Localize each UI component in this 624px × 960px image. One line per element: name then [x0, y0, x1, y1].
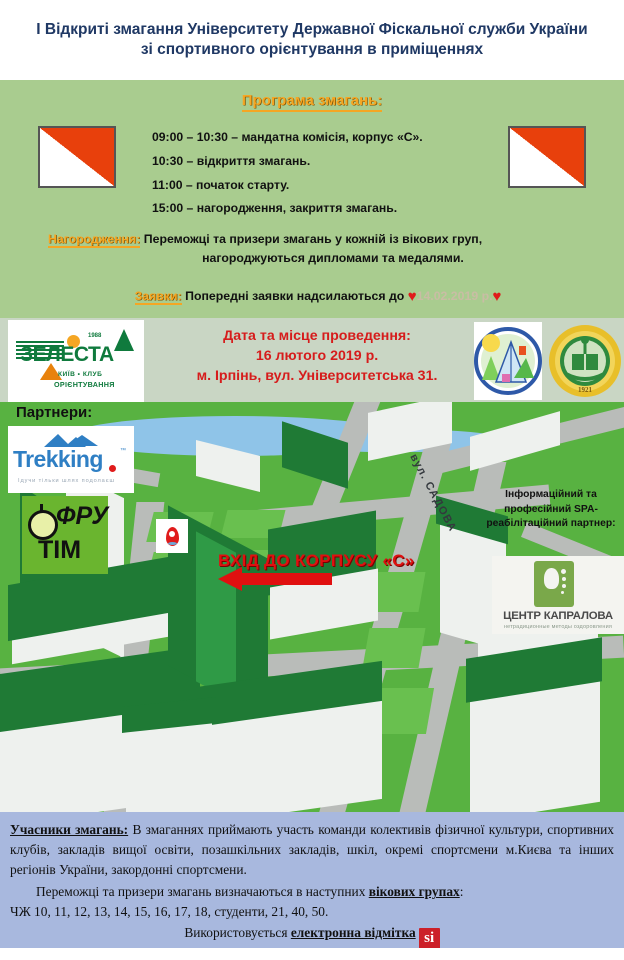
applications-deadline: 14.02.2019 р.	[417, 289, 493, 303]
groups-pre: Переможці та призери змагань визначаютьс…	[36, 884, 369, 899]
tree-icon	[114, 329, 134, 351]
schedule-item: 15:00 – нагородження, закриття змагань.	[152, 197, 512, 221]
epunch-label: електронна відмітка	[291, 925, 416, 940]
heart-icon: ♥	[493, 288, 502, 305]
frutim-tim: ТІМ	[38, 536, 81, 565]
trekking-name: Trekking	[13, 446, 103, 473]
schedule-item: 09:00 – 10:30 – мандатна комісія, корпус…	[152, 126, 512, 150]
svg-text:1921: 1921	[578, 386, 593, 394]
participants-paragraph: Учасники змагань: В змаганнях приймають …	[10, 820, 614, 879]
venue-info: Дата та місце проведення: 16 лютого 2019…	[152, 326, 482, 386]
zelesta-logo: 1988 ЗЕЛЕСТА КИЇВ • КЛУБ ОРІЄНТУВАННЯ	[8, 320, 144, 402]
kapralov-name: ЦЕНТР КАПРАЛОВА	[492, 610, 624, 622]
kapralov-center-logo: ЦЕНТР КАПРАЛОВА нетрадиционные методы оз…	[492, 556, 624, 634]
program-heading: Програма змагань:	[0, 92, 624, 109]
footprint-icon	[534, 561, 574, 607]
groups-list: ЧЖ 10, 11, 12, 13, 14, 15, 16, 17, 18, с…	[10, 902, 614, 922]
zelesta-sub-1: КИЇВ • КЛУБ	[58, 371, 102, 378]
entrance-arrow-shaft-icon	[240, 573, 332, 585]
groups-paragraph: Переможці та призери змагань визначаютьс…	[10, 882, 614, 902]
awards-text-1: Переможці та призери змагань у кожній із…	[140, 232, 482, 246]
trekking-logo: Trekking ™ Ідучи тільки шлях подолаєш	[8, 426, 134, 493]
groups-colon: :	[460, 884, 464, 899]
awards-block: Нагородження: Переможці та призери змага…	[48, 230, 588, 268]
university-emblem-icon: 1921	[548, 324, 622, 398]
tourism-emblem-icon	[474, 322, 542, 400]
awards-line-2: нагороджуються дипломами та медалями.	[48, 249, 588, 267]
program-schedule: 09:00 – 10:30 – мандатна комісія, корпус…	[152, 126, 512, 221]
schedule-item: 10:30 – відкриття змагань.	[152, 150, 512, 174]
awards-line-1: Нагородження: Переможці та призери змага…	[48, 230, 588, 248]
map-pin-marker[interactable]	[156, 519, 188, 553]
frutim-logo: ФРУ ТІМ	[22, 496, 108, 574]
trekking-tagline: Ідучи тільки шлях подолаєш	[18, 478, 115, 484]
poster-title-bar: І Відкриті змагання Університету Державн…	[0, 0, 624, 80]
participants-label: Учасники змагань:	[10, 822, 128, 837]
zelesta-sub-2: ОРІЄНТУВАННЯ	[54, 380, 115, 389]
trekking-dot-icon	[109, 465, 116, 472]
kapralov-tagline: нетрадиционные методы оздоровления	[492, 624, 624, 630]
poster-title: І Відкриті змагання Університету Державн…	[32, 20, 592, 60]
control-flag-right-icon	[508, 126, 586, 188]
partners-label: Партнери:	[16, 404, 92, 421]
zelesta-name: ЗЕЛЕСТА	[20, 343, 114, 367]
poster: І Відкриті змагання Університету Державн…	[0, 0, 624, 960]
sportident-logo-icon: si	[419, 928, 440, 949]
schedule-item: 11:00 – початок старту.	[152, 174, 512, 198]
location-pin-icon	[166, 527, 179, 546]
footer-text: Учасники змагань: В змаганнях приймають …	[10, 820, 614, 949]
spa-partner-label: Інформаційний та професійний SPA-реабілі…	[480, 488, 622, 532]
entrance-arrow-head-icon	[218, 567, 242, 591]
program-heading-text: Програма змагань:	[242, 92, 382, 112]
frutim-fru: ФРУ	[56, 502, 108, 531]
groups-label: вікових групах	[369, 884, 460, 899]
epunch-paragraph: Використовується електронна відміткаsi	[10, 923, 614, 949]
trademark-icon: ™	[120, 448, 126, 454]
venue-line-3: м. Ірпінь, вул. Університетська 31.	[152, 366, 482, 386]
epunch-pre: Використовується	[184, 925, 291, 940]
venue-line-2: 16 лютого 2019 р.	[152, 346, 482, 366]
venue-line-1: Дата та місце проведення:	[152, 326, 482, 346]
bottom-white-strip	[0, 948, 624, 960]
heart-icon: ♥	[408, 288, 417, 305]
entrance-label: ВХІД ДО КОРПУСУ «С»	[218, 551, 415, 571]
applications-block: Заявки: Попередні заявки надсилаються до…	[48, 288, 588, 305]
control-flag-left-icon	[38, 126, 116, 188]
applications-label: Заявки:	[135, 289, 182, 305]
applications-text: Попередні заявки надсилаються до	[182, 289, 408, 303]
zelesta-year: 1988	[88, 333, 101, 339]
awards-label: Нагородження:	[48, 232, 140, 248]
